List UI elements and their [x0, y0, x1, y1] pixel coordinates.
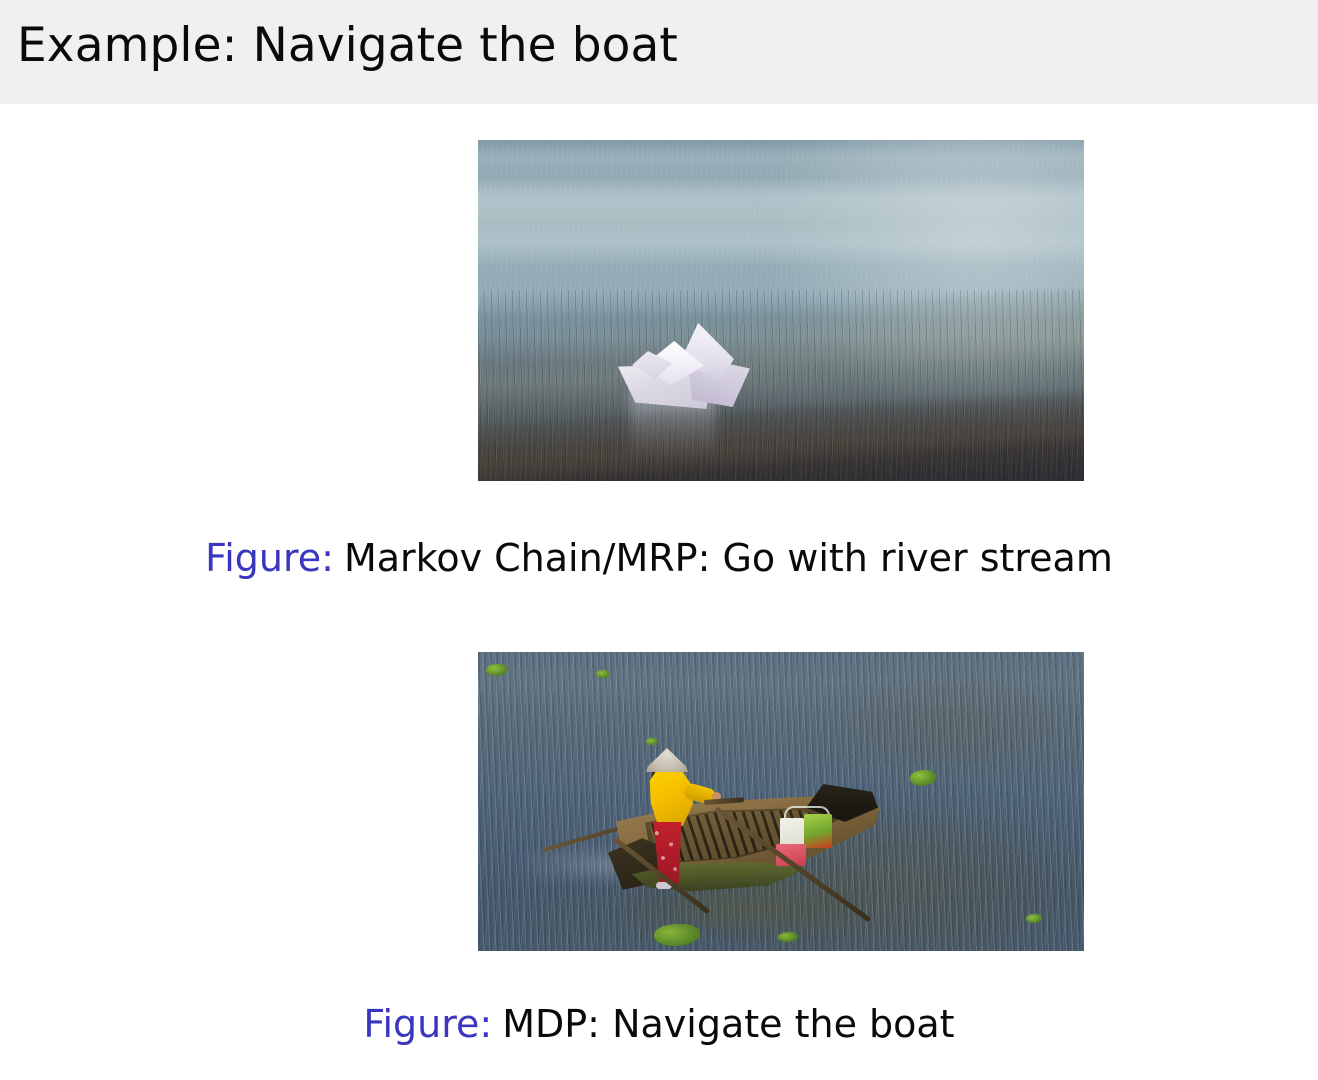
paper-boat	[618, 325, 758, 410]
slide-header: Example: Navigate the boat	[0, 0, 1318, 104]
wooden-boat	[608, 740, 898, 900]
slide-content: Figure:Markov Chain/MRP: Go with river s…	[0, 104, 1318, 1080]
figure-2-caption-label: Figure:	[363, 1002, 492, 1046]
figure-2-caption: Figure:MDP: Navigate the boat	[0, 1001, 1318, 1047]
figure-markov-chain-mrp	[478, 140, 1084, 481]
figure-1-caption-label: Figure:	[205, 536, 334, 580]
rowing-boat-photo	[478, 652, 1084, 951]
conical-hat	[646, 748, 688, 772]
cargo-bag-green	[804, 814, 832, 848]
figure-mdp	[478, 652, 1084, 951]
page-title: Example: Navigate the boat	[17, 16, 678, 76]
paper-boat-photo	[478, 140, 1084, 481]
water-ripples-dark	[478, 290, 1084, 481]
figure-2-caption-text: MDP: Navigate the boat	[502, 1002, 954, 1046]
figure-1-caption: Figure:Markov Chain/MRP: Go with river s…	[0, 535, 1318, 581]
figure-1-caption-text: Markov Chain/MRP: Go with river stream	[344, 536, 1113, 580]
